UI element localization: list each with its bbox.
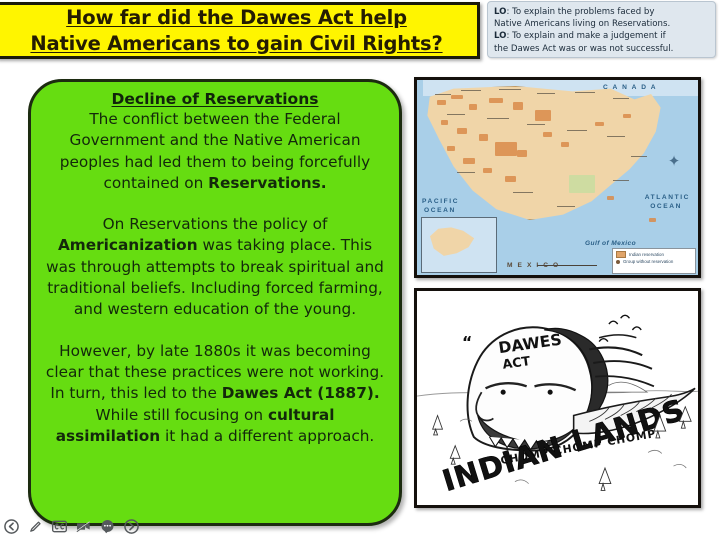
map-reservation-patch	[483, 168, 492, 173]
map-place-label	[607, 136, 625, 137]
map-reservation-patch	[607, 196, 614, 200]
slide-title-banner: How far did the Dawes Act help Native Am…	[0, 2, 480, 59]
map-legend: Indian reservation Group without reserva…	[612, 248, 696, 274]
map-place-label	[487, 118, 509, 119]
dawes-act-cartoon-image: DAWES ACT CHOMP	[414, 288, 701, 508]
content-paragraph-2: On Reservations the policy of Americaniz…	[45, 214, 385, 320]
objective-line-4: the Dawes Act was or was not successful.	[494, 43, 710, 55]
closed-captions-icon[interactable]	[52, 519, 67, 534]
learning-objectives-box: LO: To explain the problems faced by Nat…	[487, 1, 716, 58]
map-reservation-patch	[595, 122, 604, 126]
map-reservation-patch	[451, 95, 463, 99]
map-place-label	[435, 94, 451, 95]
map-reservation-patch	[513, 102, 523, 110]
objective-text-1: : To explain the problems faced by	[506, 7, 654, 17]
map-legend-row: Indian reservation	[616, 251, 692, 258]
map-reservation-patch	[535, 110, 551, 121]
page-title-line-2: Native Americans to gain Civil Rights?	[30, 31, 442, 57]
map-legend-label-1: Indian reservation	[629, 251, 664, 258]
map-scale-bar	[537, 265, 597, 270]
map-legend-swatch-icon	[616, 251, 626, 258]
page-title-line-1: How far did the Dawes Act help	[66, 5, 407, 31]
paragraph-3-bold-1: Dawes Act (1887).	[222, 384, 380, 402]
map-label-atlantic-ocean-1: ATLANTIC	[645, 194, 690, 201]
map-reservation-patch	[495, 142, 517, 156]
content-paragraph-3: However, by late 1880s it was becoming c…	[45, 341, 385, 447]
map-reservation-patch	[649, 218, 656, 222]
map-place-label	[575, 92, 595, 93]
objective-line-3: LO: To explain and make a judgement if	[494, 30, 710, 42]
map-reservation-patch	[505, 176, 516, 182]
paragraph-2-bold-1: Americanization	[58, 236, 198, 254]
cartoon-quote-mark: “	[462, 333, 472, 351]
map-reservation-patch	[437, 100, 446, 105]
objective-text-4: the Dawes Act was or was not successful.	[494, 44, 673, 54]
paragraph-2-part-1: On Reservations the policy of	[103, 215, 328, 233]
map-place-label	[461, 90, 481, 91]
map-place-label	[527, 124, 545, 125]
map-place-label	[557, 206, 575, 207]
map-legend-label-2: Group without reservation	[623, 258, 673, 265]
map-alaska-landmass	[430, 226, 476, 260]
content-paragraph-1: The conflict between the Federal Governm…	[45, 109, 385, 194]
map-compass-rose: ✦	[664, 152, 684, 172]
camera-off-icon[interactable]	[76, 519, 91, 534]
objective-text-3: : To explain and make a judgement if	[506, 31, 665, 41]
paragraph-3-part-3: it had a different approach.	[160, 427, 374, 445]
objective-line-1: LO: To explain the problems faced by	[494, 6, 710, 18]
back-icon[interactable]	[4, 519, 19, 534]
map-label-pacific-ocean-1: PACIFIC	[422, 198, 459, 205]
map-reservation-patch	[569, 175, 595, 193]
map-place-label	[613, 180, 629, 181]
map-reservation-patch	[457, 128, 467, 134]
map-place-label	[567, 130, 587, 131]
map-reservation-patch	[561, 142, 569, 147]
map-place-label	[631, 156, 647, 157]
map-reservation-patch	[463, 158, 475, 164]
objective-line-2: Native Americans living on Reservations.	[494, 18, 710, 30]
cartoon-drawing: DAWES ACT CHOMP	[417, 291, 698, 505]
map-place-label	[613, 98, 629, 99]
map-reservation-patch	[623, 114, 631, 118]
map-label-atlantic-ocean-2: OCEAN	[650, 203, 682, 210]
reservations-map-image: C A N A D A M E X I C O PACIFIC OCEAN AT…	[414, 77, 701, 278]
map-reservation-patch	[489, 98, 503, 103]
map-label-gulf-of-mexico: Gulf of Mexico	[585, 240, 636, 247]
map-place-label	[447, 114, 465, 115]
map-place-label	[513, 192, 533, 193]
map-reservation-patch	[447, 146, 455, 151]
content-heading: Decline of Reservations	[45, 89, 385, 109]
paragraph-3-part-2: While still focusing on	[96, 406, 268, 424]
map-legend-dot-icon	[616, 260, 620, 264]
map-reservation-patch	[517, 150, 527, 157]
objective-tag-1: LO	[494, 7, 506, 17]
map-label-pacific-ocean-2: OCEAN	[424, 207, 456, 214]
map-place-label	[457, 172, 475, 173]
map-legend-row: Group without reservation	[616, 258, 692, 265]
presentation-toolbar[interactable]	[4, 516, 139, 536]
objective-text-2: Native Americans living on Reservations.	[494, 19, 670, 29]
map-reservation-patch	[469, 104, 477, 110]
map-alaska-inset	[421, 217, 497, 273]
forward-icon[interactable]	[124, 519, 139, 534]
map-label-canada: C A N A D A	[603, 84, 657, 91]
objective-tag-3: LO	[494, 31, 506, 41]
paragraph-1-bold-1: Reservations.	[208, 174, 326, 192]
map-place-label	[537, 93, 555, 94]
slide-canvas: How far did the Dawes Act help Native Am…	[0, 0, 720, 539]
map-reservation-patch	[543, 132, 552, 137]
pen-icon[interactable]	[28, 519, 43, 534]
comment-icon[interactable]	[100, 519, 115, 534]
map-reservation-patch	[479, 134, 488, 141]
map-reservation-patch	[441, 120, 448, 125]
map-place-label	[499, 89, 521, 90]
content-text-box: Decline of Reservations The conflict bet…	[28, 79, 402, 526]
